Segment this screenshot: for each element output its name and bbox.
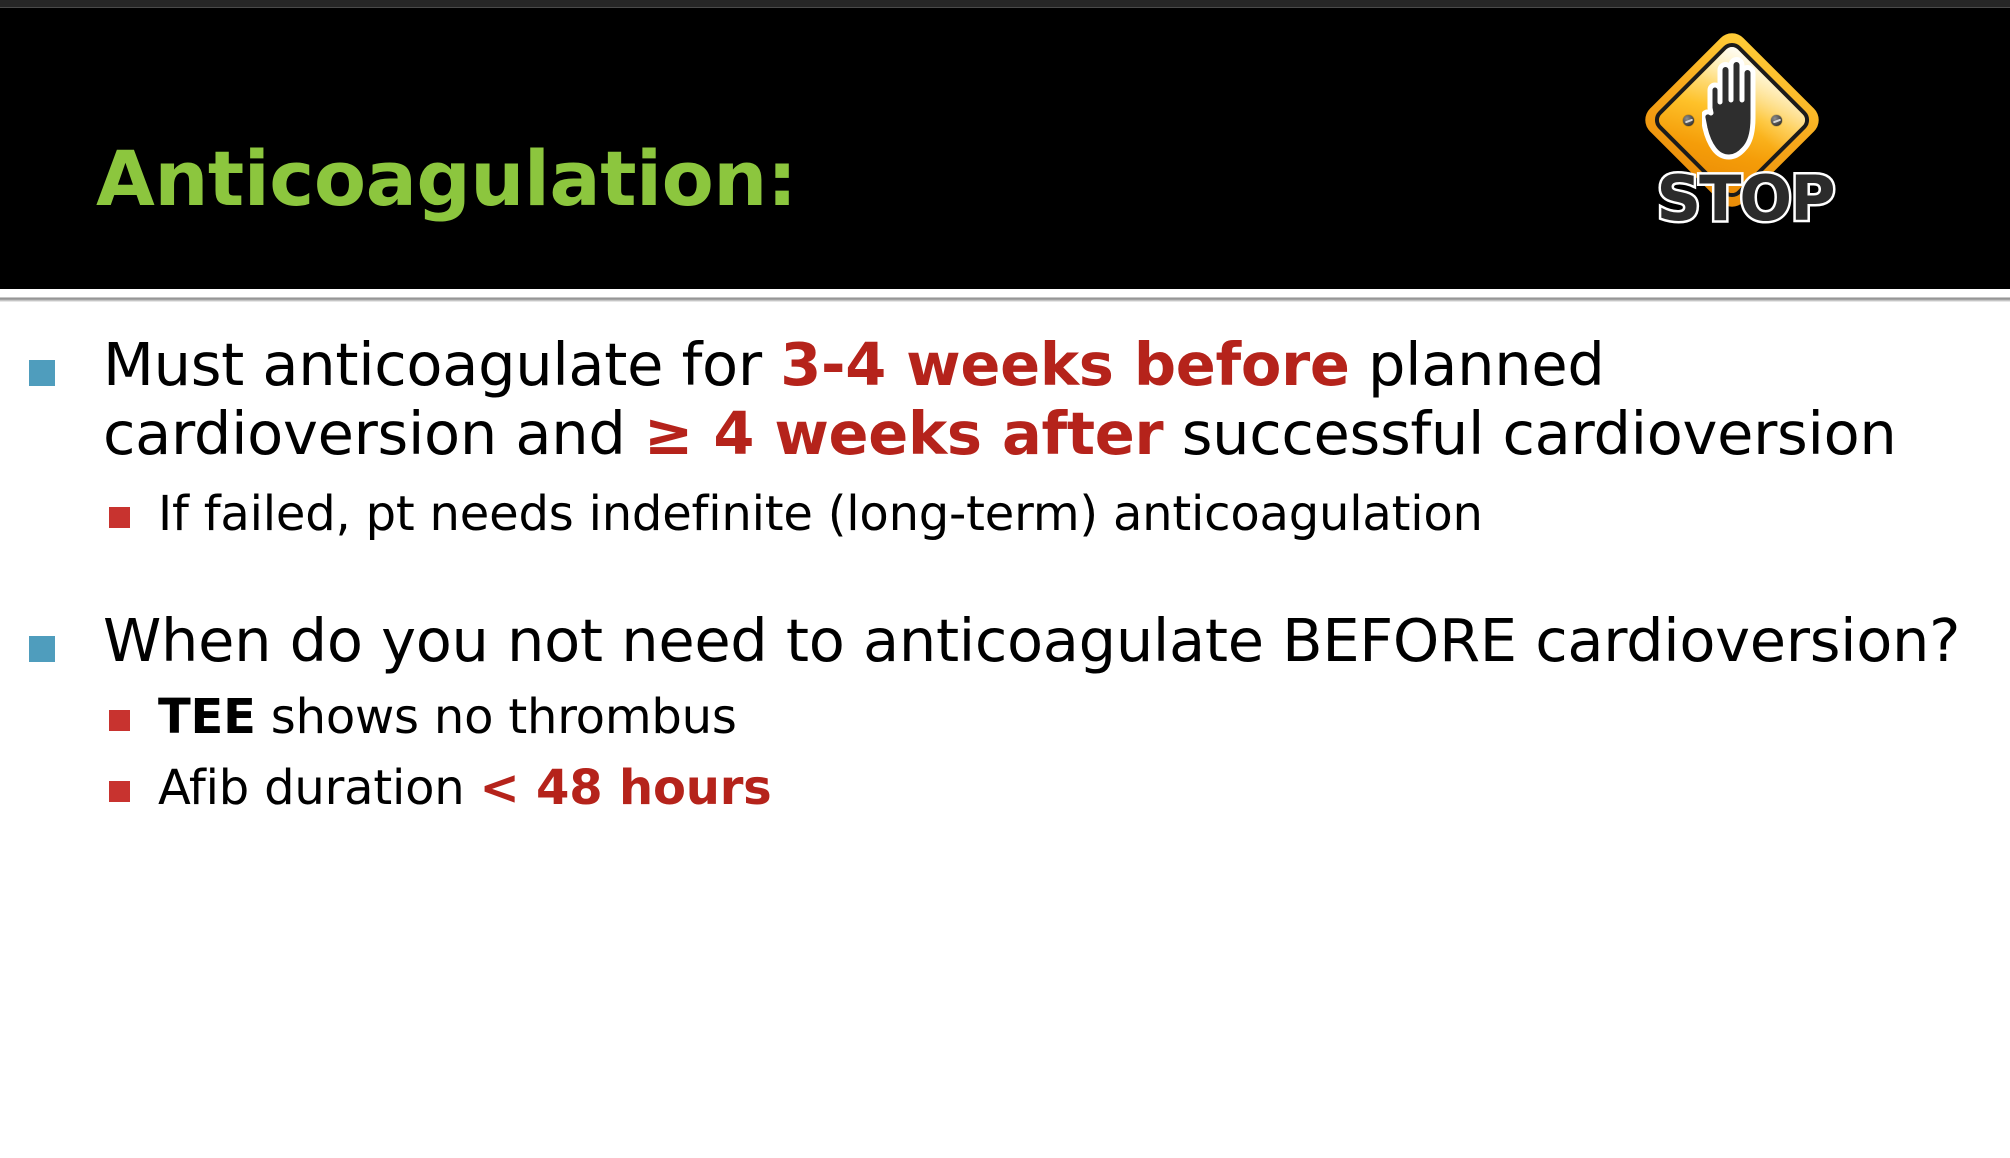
bullet-3-text: When do you not need to anticoagulate BE… bbox=[103, 606, 1960, 675]
bullet-1-text-part-1: Must anticoagulate for bbox=[103, 330, 780, 399]
bullet-marker-blue bbox=[29, 636, 55, 662]
bullet-item-1: Must anticoagulate for 3-4 weeks before … bbox=[0, 330, 2010, 468]
bullet-marker-red bbox=[109, 507, 130, 528]
bullet-2-text: If failed, pt needs indefinite (long-ter… bbox=[158, 486, 1483, 542]
title-line-1: Anticoagulation: bbox=[96, 133, 1616, 226]
bullet-marker-red bbox=[109, 710, 130, 731]
bullet-item-3: When do you not need to anticoagulate BE… bbox=[0, 606, 2010, 675]
bullet-5-text: Afib duration bbox=[158, 760, 480, 816]
banner-top-strip bbox=[0, 0, 2010, 8]
screw-icon-left bbox=[1683, 115, 1694, 126]
hand-icon bbox=[1702, 56, 1764, 160]
bullet-marker-red bbox=[109, 781, 130, 802]
page-title: Anticoagulation: The role before/after c… bbox=[96, 40, 1616, 289]
bullet-item-5: Afib duration < 48 hours bbox=[0, 760, 2010, 818]
bullet-1-text-part-3: successful cardioversion bbox=[1163, 399, 1896, 468]
stop-sign-label: STOP bbox=[1640, 168, 1850, 230]
bullet-item-2: If failed, pt needs indefinite (long-ter… bbox=[0, 486, 2010, 544]
bullet-1-emphasis-2: ≥ 4 weeks after bbox=[644, 399, 1163, 468]
screw-icon-right bbox=[1771, 115, 1782, 126]
bullet-marker-blue bbox=[29, 360, 55, 386]
bullet-4-text: shows no thrombus bbox=[256, 689, 737, 745]
bullet-item-4: TEE shows no thrombus bbox=[0, 689, 2010, 747]
bullet-group-spacer bbox=[0, 544, 2010, 606]
slide-body: Must anticoagulate for 3-4 weeks before … bbox=[0, 330, 2010, 818]
slide: Anticoagulation: The role before/after c… bbox=[0, 0, 2010, 1158]
title-banner: Anticoagulation: The role before/after c… bbox=[0, 0, 2010, 289]
banner-divider bbox=[0, 297, 2010, 302]
bullet-4-emphasis: TEE bbox=[158, 689, 256, 745]
bullet-5-emphasis: < 48 hours bbox=[480, 760, 772, 816]
bullet-1-emphasis-1: 3-4 weeks before bbox=[780, 330, 1349, 399]
stop-sign-icon: STOP bbox=[1640, 28, 1850, 238]
